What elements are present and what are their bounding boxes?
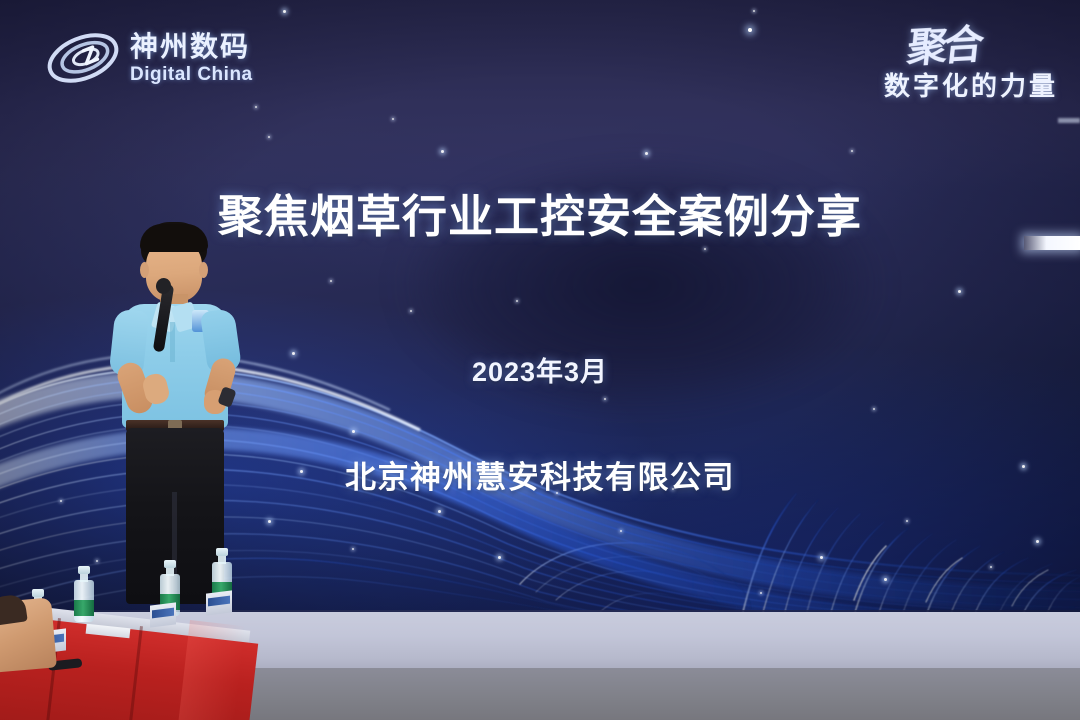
name-plate — [206, 590, 232, 615]
screen-edge-light-small — [1058, 118, 1080, 123]
bottle-cap — [216, 548, 228, 556]
table-skirt-highlight — [178, 620, 246, 720]
name-plate-stripe — [152, 608, 174, 619]
speaker-shirt-placket — [170, 322, 175, 362]
speaker-ear-left — [140, 262, 149, 278]
logo-english-name: Digital China — [130, 65, 253, 84]
brandmark-calligraphy: 聚合 — [905, 12, 984, 74]
bottle-cap — [164, 560, 176, 568]
name-plate — [150, 602, 176, 627]
swirl-galaxy-logo-icon — [44, 27, 122, 89]
logo-chinese-name: 神州数码 — [130, 33, 253, 61]
conference-stage-photo: 神州数码 Digital China 聚合 数字化的力量 聚焦烟草行业工控安全案… — [0, 0, 1080, 720]
name-plate-stripe — [208, 596, 230, 607]
speaker-hair-front — [140, 224, 208, 252]
stage-floor-front — [240, 668, 1080, 720]
digital-china-logo: 神州数码 Digital China — [44, 22, 314, 94]
speaker-ear-right — [199, 262, 208, 278]
bottle-cap — [32, 589, 44, 597]
bottle-label — [74, 600, 94, 616]
bottle-cap — [78, 566, 90, 574]
event-brandmark: 聚合 数字化的力量 — [798, 14, 1058, 110]
water-bottle — [74, 566, 94, 622]
